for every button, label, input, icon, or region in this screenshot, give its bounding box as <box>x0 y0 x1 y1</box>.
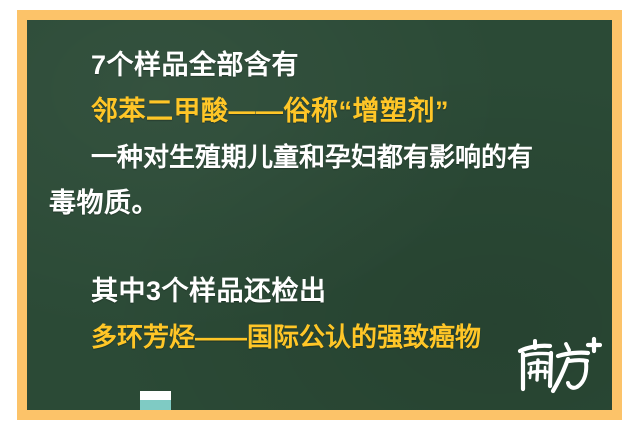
chalkboard-frame: 7个样品全部含有 邻苯二甲酸——俗称“增塑剂” 一种对生殖期儿童和孕妇都有影响的… <box>17 10 622 420</box>
text-line-2-highlight: 邻苯二甲酸——俗称“增塑剂” <box>49 88 606 134</box>
nanfang-plus-logo <box>514 334 602 400</box>
text-line-1: 7个样品全部含有 <box>49 42 606 88</box>
paragraph-spacer <box>49 226 606 268</box>
text-line-3: 一种对生殖期儿童和孕妇都有影响的有 <box>49 134 606 180</box>
chalk-eraser <box>140 391 171 410</box>
chalk-eraser-felt <box>140 391 171 400</box>
paragraph-1: 7个样品全部含有 邻苯二甲酸——俗称“增塑剂” 一种对生殖期儿童和孕妇都有影响的… <box>49 42 606 226</box>
text-line-5: 其中3个样品还检出 <box>49 268 606 314</box>
chalk-eraser-body <box>140 400 171 410</box>
text-line-4: 毒物质。 <box>49 180 606 226</box>
chalkboard-text-block: 7个样品全部含有 邻苯二甲酸——俗称“增塑剂” 一种对生殖期儿童和孕妇都有影响的… <box>27 42 612 360</box>
chalkboard-surface: 7个样品全部含有 邻苯二甲酸——俗称“增塑剂” 一种对生殖期儿童和孕妇都有影响的… <box>27 20 612 410</box>
